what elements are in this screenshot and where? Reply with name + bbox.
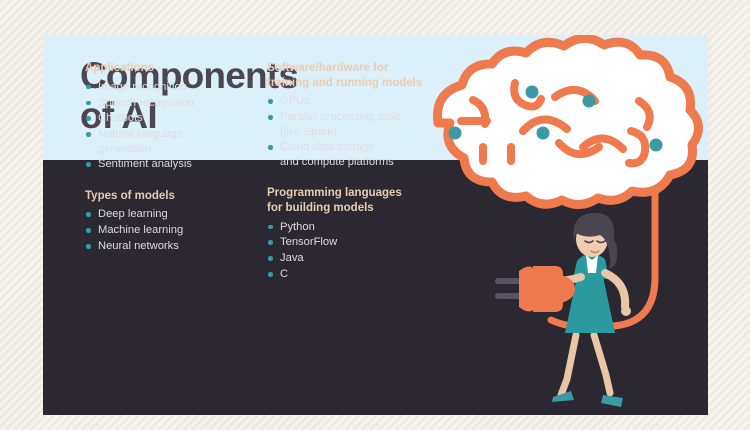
column-middle: Software/hardware for training and runni… bbox=[267, 61, 467, 283]
list-item: Java bbox=[267, 251, 467, 265]
list-item: Speech recognition bbox=[85, 96, 275, 110]
list-item: Deep learning bbox=[85, 207, 275, 221]
list-item: Parallel processing tools (like Spark) bbox=[267, 110, 467, 139]
list-programming-languages: Python TensorFlow Java C bbox=[267, 220, 467, 282]
list-applications: Image recognition Speech recognition Cha… bbox=[85, 80, 275, 172]
list-item: Image recognition bbox=[85, 80, 275, 94]
group-heading-applications: Applications bbox=[85, 61, 275, 76]
group-software-hardware: Software/hardware for training and runni… bbox=[267, 61, 467, 169]
list-item: Natural language generation bbox=[85, 127, 275, 156]
group-programming-languages: Programming languages for building model… bbox=[267, 186, 467, 281]
list-item: Chatbots bbox=[85, 111, 275, 125]
column-left: Applications Image recognition Speech re… bbox=[85, 61, 275, 255]
infographic-card: Components of AI bbox=[43, 35, 708, 415]
group-heading-software-hardware: Software/hardware for training and runni… bbox=[267, 61, 467, 90]
list-item: TensorFlow bbox=[267, 235, 467, 249]
group-applications: Applications Image recognition Speech re… bbox=[85, 61, 275, 172]
list-item: C bbox=[267, 267, 467, 281]
list-item: Cloud data storage and compute platforms bbox=[267, 140, 467, 169]
list-item: GPUs bbox=[267, 94, 467, 108]
list-item: Machine learning bbox=[85, 223, 275, 237]
list-software-hardware: GPUs Parallel processing tools (like Spa… bbox=[267, 94, 467, 169]
group-heading-types-of-models: Types of models bbox=[85, 189, 275, 204]
list-item: Sentiment analysis bbox=[85, 157, 275, 171]
group-types-of-models: Types of models Deep learning Machine le… bbox=[85, 189, 275, 254]
list-types-of-models: Deep learning Machine learning Neural ne… bbox=[85, 207, 275, 253]
group-heading-programming-languages: Programming languages for building model… bbox=[267, 186, 467, 215]
list-item: Neural networks bbox=[85, 239, 275, 253]
list-item: Python bbox=[267, 220, 467, 234]
